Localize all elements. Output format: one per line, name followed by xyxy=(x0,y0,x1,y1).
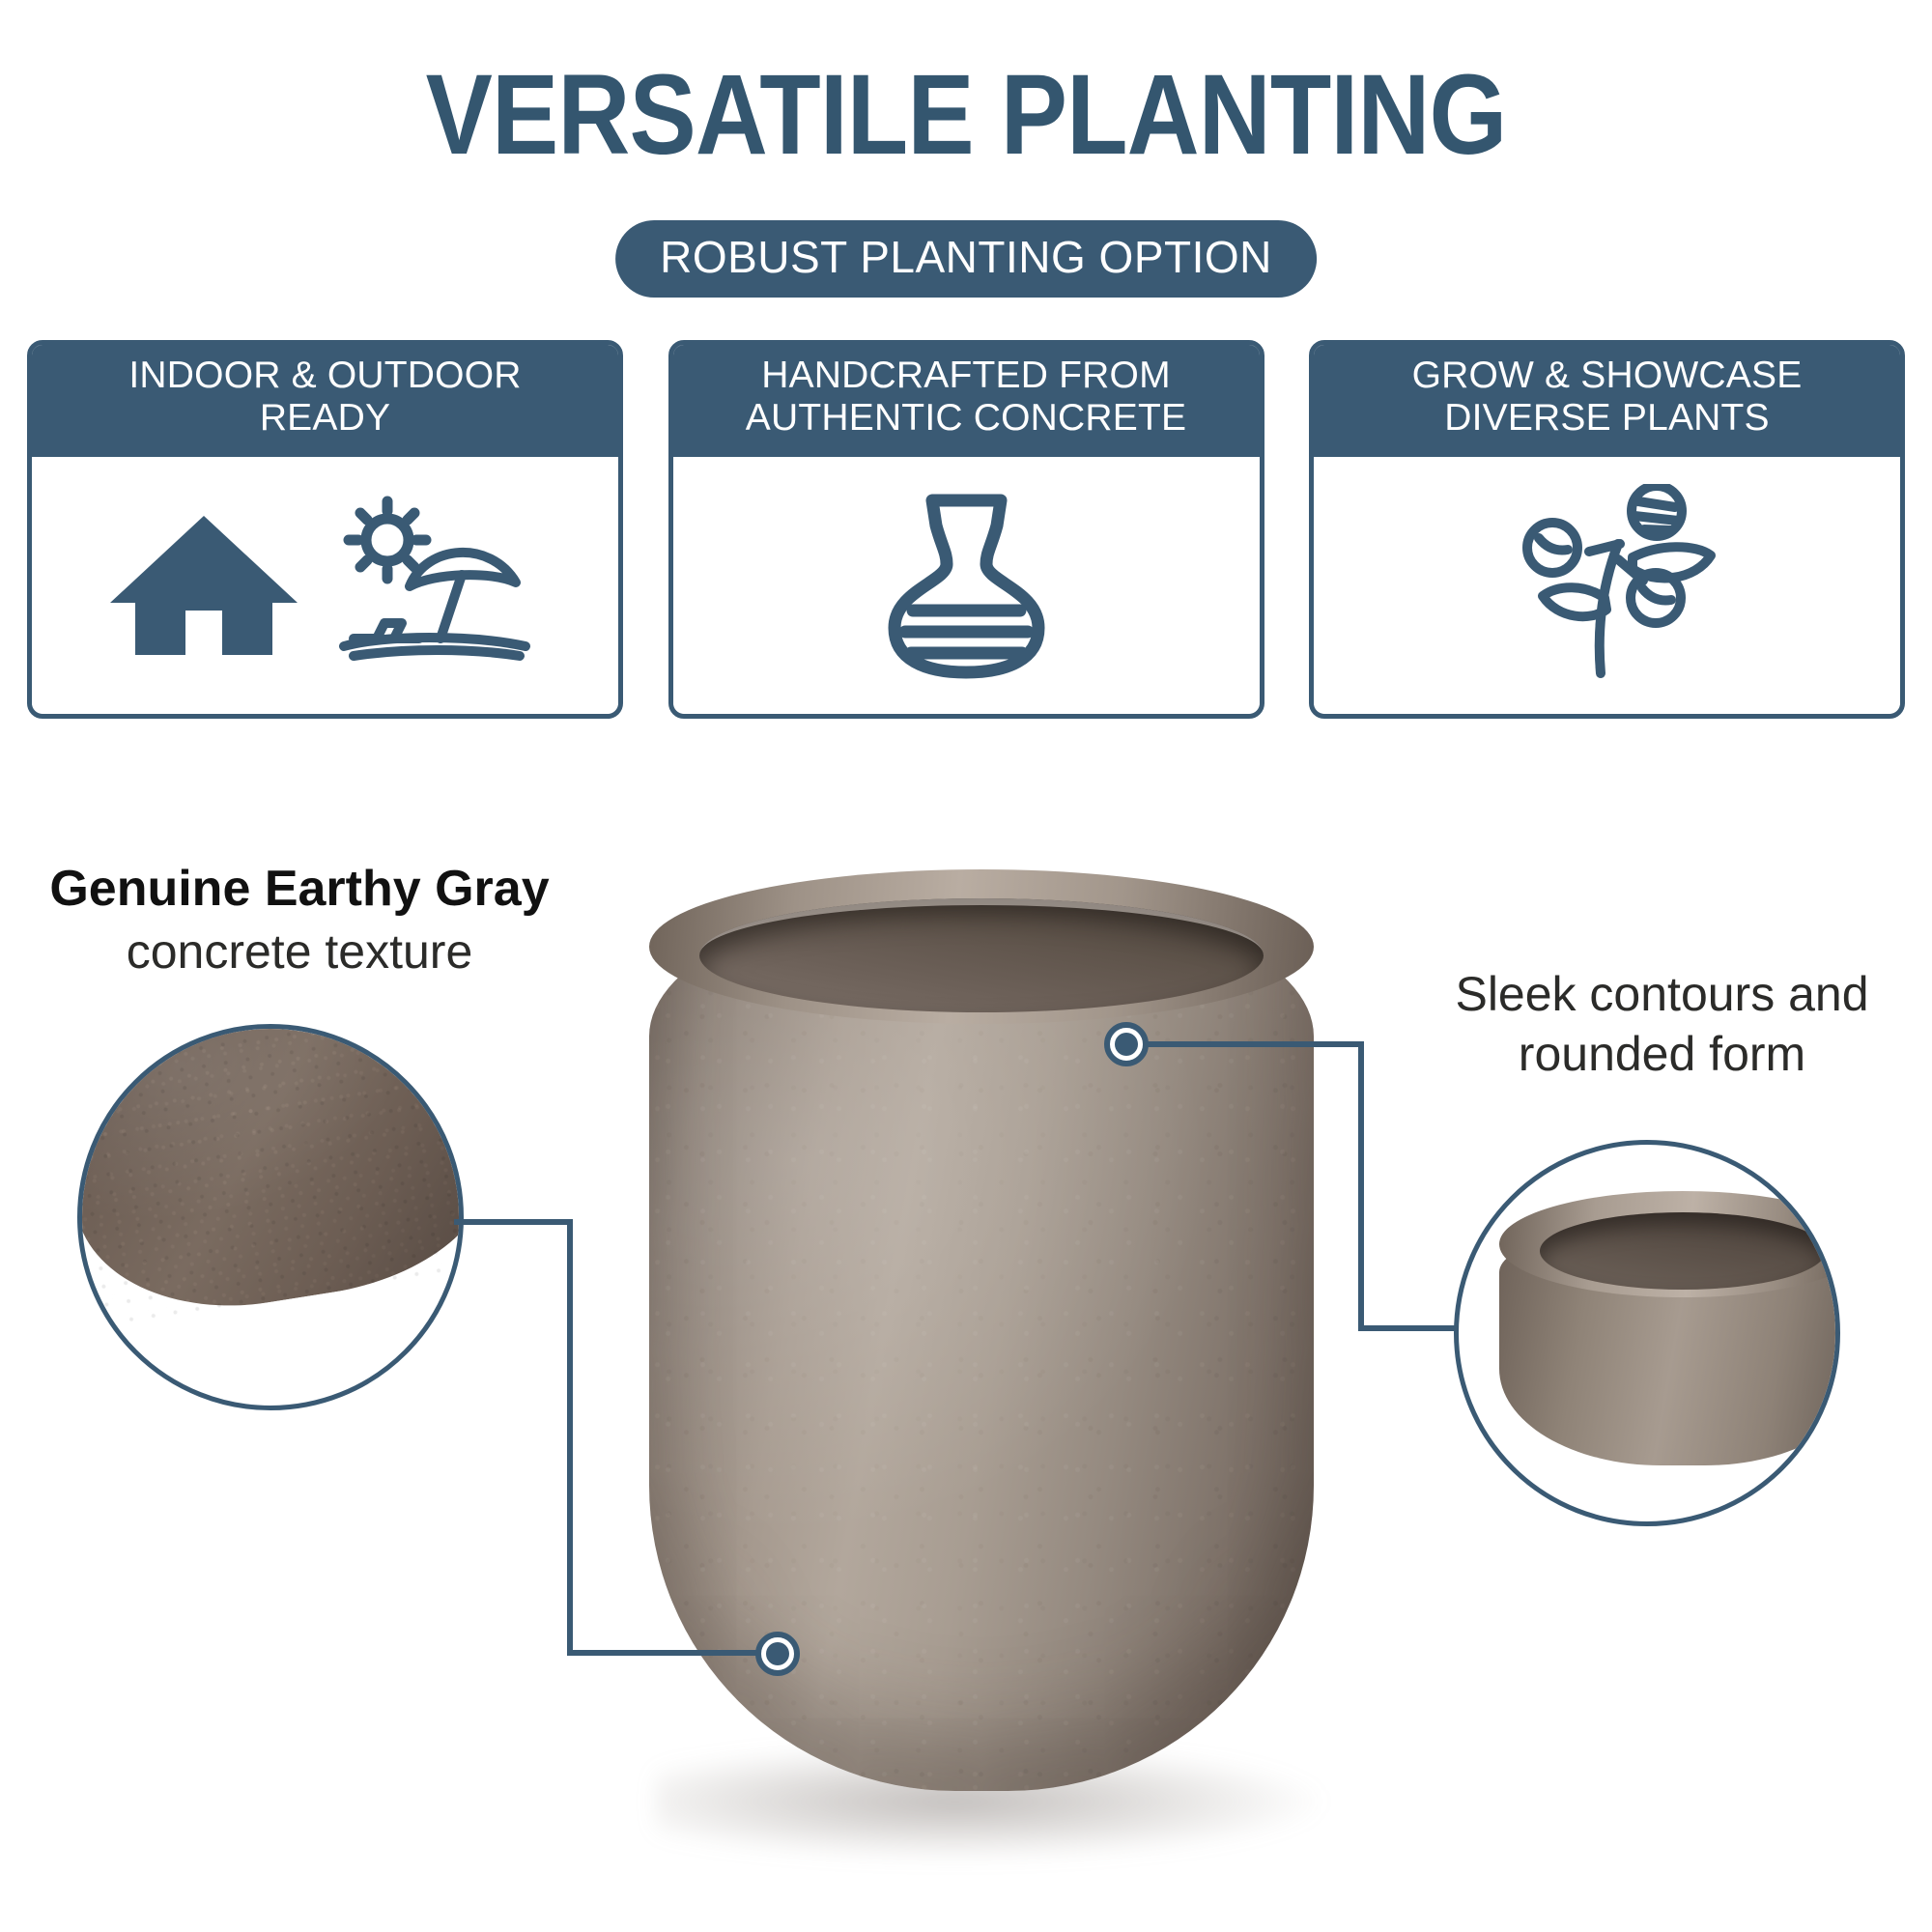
connector-right-vertical xyxy=(1358,1041,1364,1331)
feature-card-icons xyxy=(673,452,1260,714)
connector-left-horizontal-top xyxy=(454,1219,573,1225)
feature-card-heading: GROW & SHOWCASE DIVERSE PLANTS xyxy=(1314,345,1900,452)
subtitle-badge: ROBUST PLANTING OPTION xyxy=(615,220,1317,298)
connector-left-horizontal-bottom xyxy=(567,1650,777,1656)
feature-card-heading-line1: GROW & SHOWCASE xyxy=(1412,355,1803,396)
zoom-circle-texture xyxy=(77,1024,464,1410)
house-icon xyxy=(102,498,305,672)
callout-left-line1: Genuine Earthy Gray xyxy=(39,860,560,918)
feature-card-handcrafted-concrete: HANDCRAFTED FROM AUTHENTIC CONCRETE xyxy=(668,340,1264,719)
infographic-canvas: VERSATILE PLANTING ROBUST PLANTING OPTIO… xyxy=(0,0,1932,1932)
callout-right-line2: rounded form xyxy=(1399,1026,1925,1082)
feature-card-heading-line2: READY xyxy=(260,397,390,439)
callout-marker-right xyxy=(1104,1022,1149,1066)
callout-marker-left xyxy=(755,1632,800,1676)
beach-umbrella-icon xyxy=(327,494,549,677)
feature-card-icons xyxy=(1314,452,1900,714)
feature-card-row: INDOOR & OUTDOOR READY xyxy=(27,340,1905,719)
callout-left-line2: concrete texture xyxy=(39,923,560,980)
feature-card-heading: HANDCRAFTED FROM AUTHENTIC CONCRETE xyxy=(673,345,1260,452)
planter-body xyxy=(649,893,1314,1791)
page-title: VERSATILE PLANTING xyxy=(116,58,1816,172)
feature-card-heading: INDOOR & OUTDOOR READY xyxy=(32,345,618,452)
concrete-texture-closeup xyxy=(77,1024,464,1330)
feature-card-grow-showcase: GROW & SHOWCASE DIVERSE PLANTS xyxy=(1309,340,1905,719)
feature-card-heading-line1: INDOOR & OUTDOOR xyxy=(128,355,521,396)
feature-card-icons xyxy=(32,452,618,714)
callout-right-line1: Sleek contours and xyxy=(1399,966,1925,1022)
zoom-circle-contour xyxy=(1454,1140,1840,1526)
vase-icon xyxy=(863,487,1070,685)
callout-left-label: Genuine Earthy Gray concrete texture xyxy=(39,860,560,980)
feature-card-indoor-outdoor: INDOOR & OUTDOOR READY xyxy=(27,340,623,719)
connector-right-horizontal-bottom xyxy=(1358,1325,1459,1331)
callout-right-label: Sleek contours and rounded form xyxy=(1399,966,1925,1082)
planter-rim-highlight xyxy=(699,898,1264,1012)
rim-closeup-opening xyxy=(1540,1212,1826,1290)
planter-rim-closeup xyxy=(1499,1191,1840,1481)
product-planter xyxy=(628,869,1333,1893)
berry-plant-icon xyxy=(1496,484,1719,687)
connector-left-vertical xyxy=(567,1219,573,1656)
feature-card-heading-line2: DIVERSE PLANTS xyxy=(1444,397,1770,439)
feature-card-heading-line1: HANDCRAFTED FROM xyxy=(761,355,1171,396)
connector-right-horizontal-top xyxy=(1146,1041,1364,1047)
feature-card-heading-line2: AUTHENTIC CONCRETE xyxy=(746,397,1186,439)
